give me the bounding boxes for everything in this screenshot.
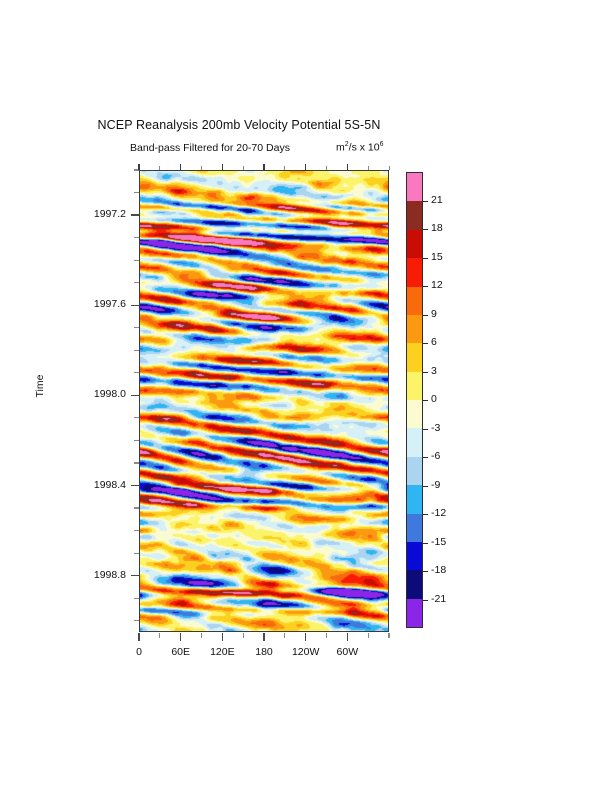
x-axis-tick-major	[222, 633, 223, 641]
colorbar-band-2	[407, 230, 422, 258]
colorbar-label: 3	[431, 365, 437, 377]
colorbar-tick	[423, 571, 428, 572]
y-axis-tick-major	[131, 214, 139, 215]
page-title: NCEP Reanalysis 200mb Velocity Potential…	[0, 118, 478, 132]
colorbar-units-label: m2/s x 106	[336, 141, 384, 154]
y-axis-label: 1998.0	[66, 388, 126, 400]
x-axis-tick-major	[138, 633, 139, 641]
colorbar-band-7	[407, 372, 422, 400]
y-axis-tick-major	[131, 575, 139, 576]
colorbar-tick	[423, 343, 428, 344]
x-axis-tick-minor	[388, 633, 389, 638]
colorbar-label: 9	[431, 308, 437, 320]
y-axis-label: 1997.6	[66, 298, 126, 310]
colorbar-label: -6	[431, 450, 440, 462]
colorbar-band-9	[407, 428, 422, 456]
x-axis-label: 120W	[286, 646, 326, 658]
colorbar-label: 6	[431, 336, 437, 348]
colorbar-band-12	[407, 514, 422, 542]
colorbar-band-10	[407, 457, 422, 485]
colorbar-band-0	[407, 173, 422, 201]
colorbar-band-6	[407, 343, 422, 371]
colorbar-band-1	[407, 201, 422, 229]
units-exponent-2: 6	[380, 141, 384, 148]
colorbar-tick	[423, 400, 428, 401]
colorbar-tick	[423, 486, 428, 487]
colorbar-tick	[423, 543, 428, 544]
colorbar-tick	[423, 286, 428, 287]
x-axis-label: 60W	[327, 646, 367, 658]
colorbar-label: 0	[431, 393, 437, 405]
y-axis-title: Time	[34, 341, 46, 431]
colorbar-tick	[423, 429, 428, 430]
colorbar-tick	[423, 600, 428, 601]
x-axis-tick-minor	[201, 633, 202, 638]
units-middle: /s x 10	[349, 142, 380, 154]
y-axis-label: 1998.4	[66, 479, 126, 491]
colorbar-label: 15	[431, 251, 443, 263]
colorbar-label: -3	[431, 422, 440, 434]
x-axis-tick-major	[347, 633, 348, 641]
x-axis-tick-minor	[284, 633, 285, 638]
x-axis-tick-major	[263, 633, 264, 641]
x-axis-label: 0	[119, 646, 159, 658]
x-axis-label: 180	[244, 646, 284, 658]
x-axis-tick-major	[180, 633, 181, 641]
colorbar-band-5	[407, 315, 422, 343]
colorbar-tick	[423, 514, 428, 515]
colorbar-label: -21	[431, 593, 446, 605]
colorbar-tick	[423, 258, 428, 259]
colorbar	[406, 172, 423, 628]
colorbar-label: 12	[431, 279, 443, 291]
colorbar-label: -15	[431, 536, 446, 548]
figure-canvas: NCEP Reanalysis 200mb Velocity Potential…	[0, 0, 612, 792]
colorbar-band-15	[407, 599, 422, 627]
colorbar-label: 18	[431, 222, 443, 234]
colorbar-band-3	[407, 258, 422, 286]
y-axis-tick-major	[131, 305, 139, 306]
colorbar-band-4	[407, 287, 422, 315]
colorbar-label: -18	[431, 564, 446, 576]
colorbar-band-14	[407, 570, 422, 598]
colorbar-band-13	[407, 542, 422, 570]
x-axis-label: 120E	[202, 646, 242, 658]
hovmoller-heatmap	[140, 171, 388, 631]
colorbar-tick	[423, 372, 428, 373]
colorbar-band-11	[407, 485, 422, 513]
y-axis-tick-major	[131, 395, 139, 396]
colorbar-label: 21	[431, 194, 443, 206]
y-axis-tick-major	[131, 485, 139, 486]
x-axis-tick-minor	[159, 633, 160, 638]
colorbar-tick	[423, 201, 428, 202]
x-axis-tick-minor	[326, 633, 327, 638]
x-axis-label: 60E	[161, 646, 201, 658]
colorbar-tick	[423, 457, 428, 458]
colorbar-tick	[423, 315, 428, 316]
units-base: m	[336, 142, 345, 154]
colorbar-tick	[423, 229, 428, 230]
colorbar-label: -12	[431, 507, 446, 519]
y-axis-label: 1998.8	[66, 569, 126, 581]
x-axis-tick-minor	[368, 633, 369, 638]
colorbar-label: -9	[431, 479, 440, 491]
y-axis-label: 1997.2	[66, 208, 126, 220]
colorbar-band-8	[407, 400, 422, 428]
x-axis-tick-minor	[243, 633, 244, 638]
x-axis-tick-major	[305, 633, 306, 641]
hovmoller-plot-area	[139, 170, 389, 632]
